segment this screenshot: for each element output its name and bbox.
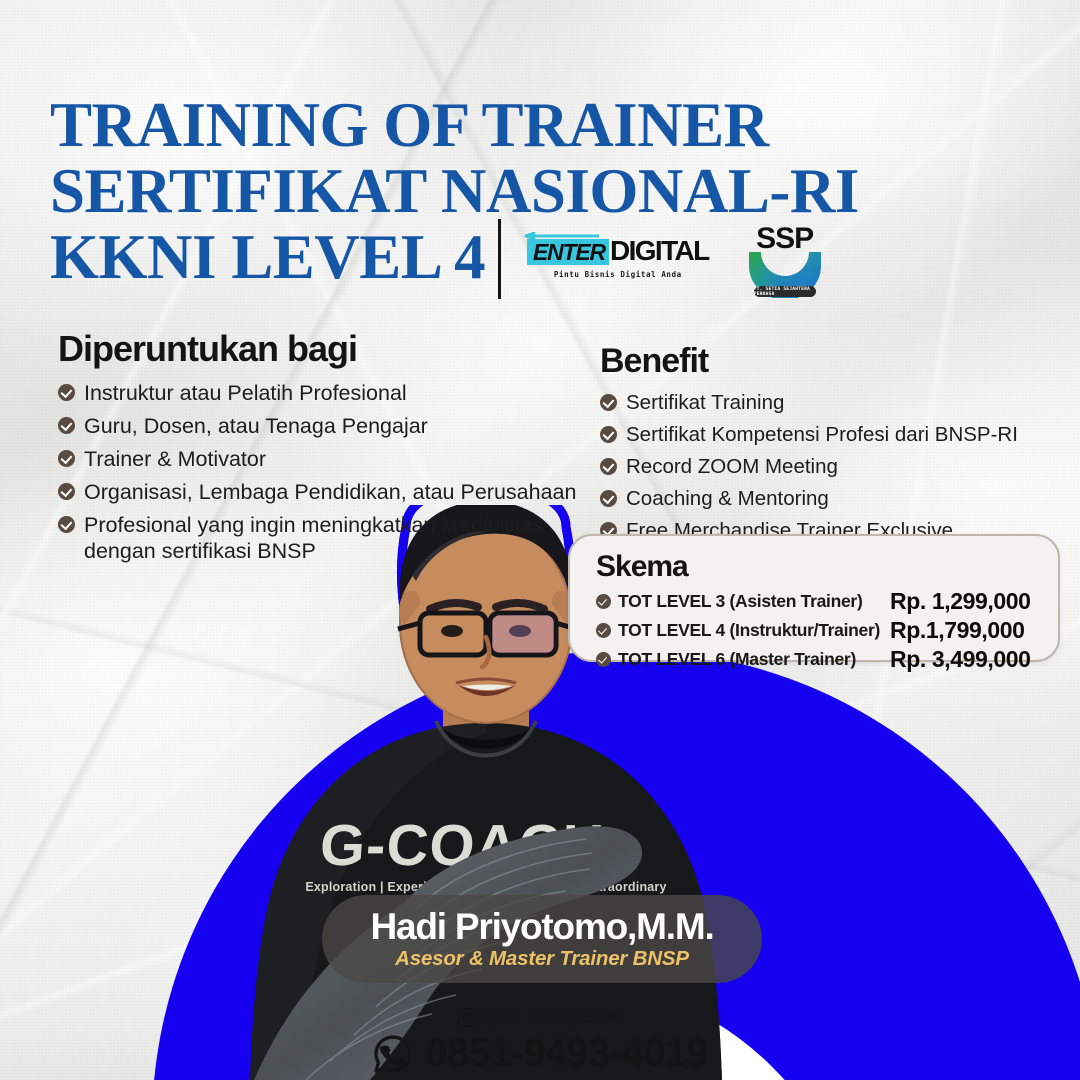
table-row: TOT LEVEL 4 (Instruktur/Trainer) Rp.1,79… bbox=[596, 617, 1058, 644]
list-item: Record ZOOM Meeting bbox=[600, 454, 1070, 479]
benefit-heading: Benefit bbox=[600, 342, 1070, 381]
list-item: Coaching & Mentoring bbox=[600, 486, 1070, 511]
skema-level-label: TOT LEVEL 4 (Instruktur/Trainer) bbox=[618, 620, 890, 641]
check-circle-icon bbox=[58, 417, 75, 434]
list-item: Sertifikat Training bbox=[600, 390, 1070, 415]
whatsapp-row[interactable]: 0851-9493-4019 bbox=[372, 1031, 707, 1076]
list-item-label: Instruktur atau Pelatih Profesional bbox=[84, 380, 407, 406]
skema-level-label: TOT LEVEL 6 (Master Trainer) bbox=[618, 649, 890, 670]
whatsapp-number: 0851-9493-4019 bbox=[425, 1031, 707, 1076]
check-circle-icon bbox=[596, 594, 611, 609]
list-item-label: Coaching & Mentoring bbox=[626, 486, 829, 511]
ssp-wordmark: SSP bbox=[743, 222, 827, 256]
list-item-label: Organisasi, Lembaga Pendidikan, atau Per… bbox=[84, 479, 576, 505]
check-circle-icon bbox=[596, 652, 611, 667]
speaker-name-banner: Hadi Priyotomo,M.M. Asesor & Master Trai… bbox=[322, 895, 762, 983]
check-circle-icon bbox=[58, 450, 75, 467]
check-circle-icon bbox=[58, 516, 75, 533]
logo-strip: ENTER DIGITAL Pintu Bisnis Digital Anda bbox=[498, 218, 827, 300]
contact-block: @enterdigital.id 0851-9493-4019 bbox=[0, 1005, 1080, 1076]
enter-tagline: Pintu Bisnis Digital Anda bbox=[554, 270, 682, 279]
check-circle-icon bbox=[600, 426, 617, 443]
skema-heading: Skema bbox=[596, 550, 1058, 584]
headline-line-2: SERTIFIKAT NASIONAL-RI bbox=[50, 158, 870, 224]
check-circle-icon bbox=[58, 483, 75, 500]
ssp-company-name: PT. SETIA SEJAHTERA PERKASA bbox=[754, 287, 816, 297]
check-circle-icon bbox=[600, 490, 617, 507]
vertical-divider bbox=[498, 219, 501, 299]
list-item-label: Sertifikat Kompetensi Profesi dari BNSP-… bbox=[626, 422, 1018, 447]
check-circle-icon bbox=[600, 458, 617, 475]
check-circle-icon bbox=[596, 623, 611, 638]
poster-canvas: G-COACH Exploration | Experience | Exper… bbox=[0, 0, 1080, 1080]
list-item: Trainer & Motivator bbox=[58, 446, 578, 472]
speaker-title: Asesor & Master Trainer BNSP bbox=[395, 947, 689, 971]
left-arrow-icon bbox=[524, 232, 600, 240]
list-item: Guru, Dosen, atau Tenaga Pengajar bbox=[58, 413, 578, 439]
digital-wordmark: DIGITAL bbox=[610, 239, 709, 263]
headline-line-1: TRAINING OF TRAINER bbox=[50, 92, 870, 158]
skema-price: Rp. 3,499,000 bbox=[890, 646, 1031, 673]
benefit-section: Benefit Sertifikat Training Sertifikat K… bbox=[600, 342, 1070, 550]
list-item-label: Profesional yang ingin meningkatkan kred… bbox=[84, 512, 578, 564]
audience-section: Diperuntukan bagi Instruktur atau Pelati… bbox=[58, 328, 578, 571]
list-item: Organisasi, Lembaga Pendidikan, atau Per… bbox=[58, 479, 578, 505]
list-item-label: Record ZOOM Meeting bbox=[626, 454, 838, 479]
skema-rows: TOT LEVEL 3 (Asisten Trainer) Rp. 1,299,… bbox=[596, 588, 1058, 673]
speaker-name: Hadi Priyotomo,M.M. bbox=[370, 908, 713, 946]
list-item: Profesional yang ingin meningkatkan kred… bbox=[58, 512, 578, 564]
audience-heading: Diperuntukan bagi bbox=[58, 328, 578, 370]
whatsapp-icon bbox=[372, 1033, 414, 1075]
check-circle-icon bbox=[600, 394, 617, 411]
skema-price: Rp.1,799,000 bbox=[890, 617, 1025, 644]
list-item-label: Sertifikat Training bbox=[626, 390, 784, 415]
table-row: TOT LEVEL 6 (Master Trainer) Rp. 3,499,0… bbox=[596, 646, 1058, 673]
list-item: Sertifikat Kompetensi Profesi dari BNSP-… bbox=[600, 422, 1070, 447]
list-item: Instruktur atau Pelatih Profesional bbox=[58, 380, 578, 406]
enter-wordmark: ENTER bbox=[527, 239, 609, 265]
check-circle-icon bbox=[58, 384, 75, 401]
skema-price-card: Skema TOT LEVEL 3 (Asisten Trainer) Rp. … bbox=[568, 534, 1060, 662]
enter-digital-logo: ENTER DIGITAL Pintu Bisnis Digital Anda bbox=[527, 239, 709, 279]
list-item-label: Guru, Dosen, atau Tenaga Pengajar bbox=[84, 413, 428, 439]
skema-price: Rp. 1,299,000 bbox=[890, 588, 1031, 615]
instagram-row[interactable]: @enterdigital.id bbox=[457, 1005, 623, 1029]
benefit-list: Sertifikat Training Sertifikat Kompetens… bbox=[600, 390, 1070, 543]
ssp-company-banner: PT. SETIA SEJAHTERA PERKASA bbox=[754, 286, 816, 297]
list-item-label: Trainer & Motivator bbox=[84, 446, 266, 472]
instagram-handle: @enterdigital.id bbox=[483, 1005, 623, 1029]
skema-level-label: TOT LEVEL 3 (Asisten Trainer) bbox=[618, 591, 890, 612]
audience-list: Instruktur atau Pelatih Profesional Guru… bbox=[58, 380, 578, 564]
table-row: TOT LEVEL 3 (Asisten Trainer) Rp. 1,299,… bbox=[596, 588, 1058, 615]
ssp-logo: SSP PT. SETIA SEJAHTERA PERKASA bbox=[743, 220, 827, 298]
instagram-icon bbox=[457, 1007, 478, 1028]
